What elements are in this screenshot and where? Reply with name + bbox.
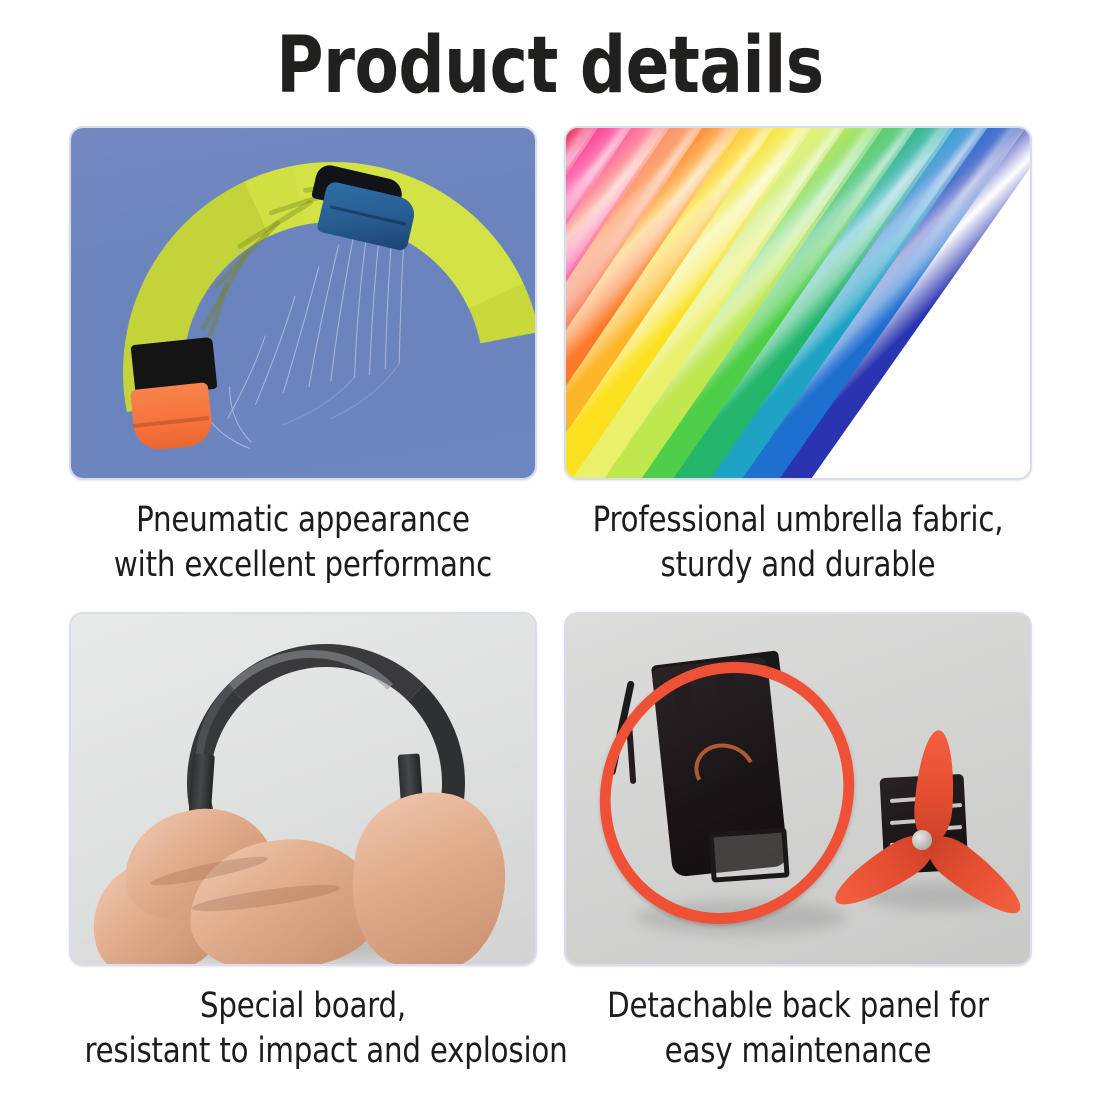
caption-line-2: easy maintenance [579, 1029, 1016, 1074]
product-image-card-board[interactable] [69, 612, 537, 966]
kite-illustration [71, 128, 535, 478]
caption-line-2: with excellent performanc [84, 543, 521, 588]
feature-cell-detachable-back-panel: Detachable back panel for easy maintenan… [561, 612, 1034, 1086]
card-caption: Pneumatic appearance with excellent perf… [84, 498, 521, 588]
card-caption: Detachable back panel for easy maintenan… [579, 984, 1016, 1074]
card-caption: Special board, resistant to impact and e… [84, 984, 521, 1074]
caption-line-2: resistant to impact and explosion [84, 1029, 521, 1074]
caption-line-1: Detachable back panel for [579, 984, 1016, 1029]
page-title: Product details [44, 22, 1056, 110]
feature-cell-pneumatic-appearance: Pneumatic appearance with excellent perf… [66, 126, 539, 612]
product-image-card-kite[interactable] [69, 126, 537, 480]
product-image-card-fabric[interactable] [564, 126, 1032, 480]
product-image-card-backpanel[interactable] [564, 612, 1032, 966]
caption-line-1: Professional umbrella fabric, [579, 498, 1016, 543]
product-feature-grid: Pneumatic appearance with excellent perf… [66, 126, 1034, 1086]
card-caption: Professional umbrella fabric, sturdy and… [579, 498, 1016, 588]
propeller-hub [912, 830, 932, 850]
caption-line-2: sturdy and durable [579, 543, 1016, 588]
product-details-page: Product details [0, 0, 1100, 1100]
feature-cell-umbrella-fabric: Professional umbrella fabric, sturdy and… [561, 126, 1034, 612]
caption-line-1: Pneumatic appearance [84, 498, 521, 543]
caption-line-1: Special board, [84, 984, 521, 1029]
feature-cell-special-board: Special board, resistant to impact and e… [66, 612, 539, 1086]
